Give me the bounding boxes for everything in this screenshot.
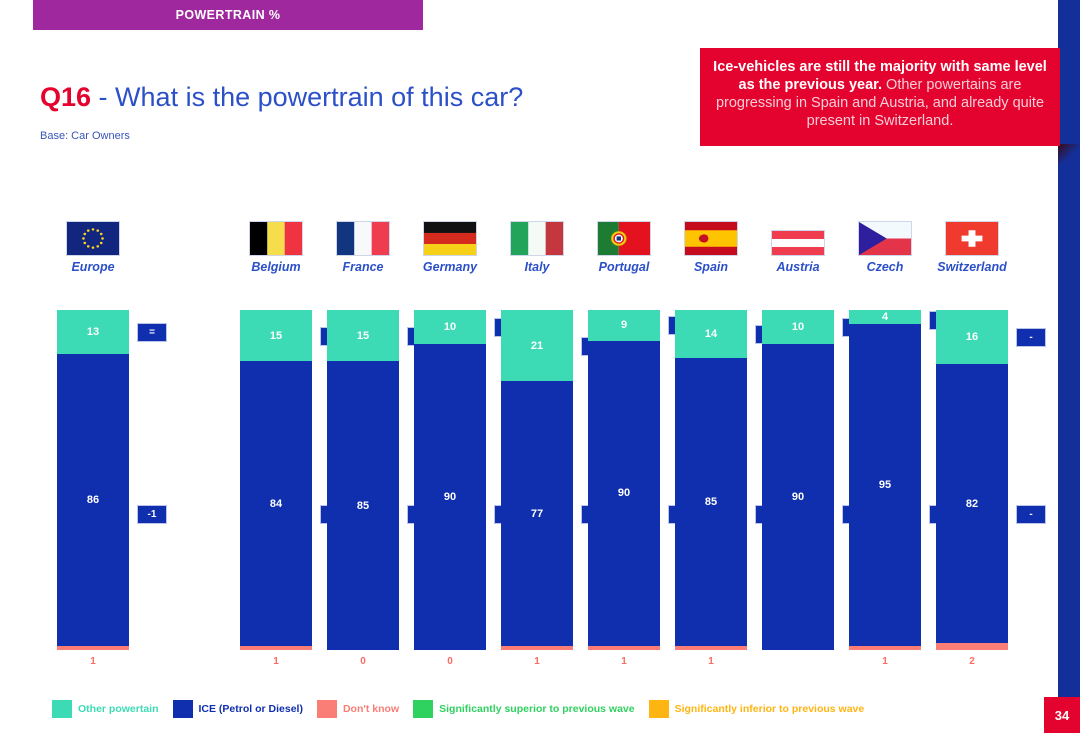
flag-portugal-icon <box>597 221 651 256</box>
legend-swatch-icon <box>413 700 433 718</box>
segment-value: 85 <box>705 496 717 508</box>
country-label: Switzerland <box>937 260 1006 274</box>
segment-value: 9 <box>621 319 627 331</box>
flag-eu-icon <box>66 221 120 256</box>
country-column-switzerland: Switzerland16822-- <box>936 222 1008 274</box>
segment-value: 16 <box>966 331 978 343</box>
insight-callout: Ice-vehicles are still the majority with… <box>700 48 1060 146</box>
segment-dont-know <box>936 643 1008 650</box>
stacked-bar: 1386 <box>57 310 129 650</box>
segment-value: 15 <box>357 330 369 342</box>
country-column-germany: Germany10900-2+3 <box>414 222 486 274</box>
question-number: Q16 <box>40 82 91 112</box>
country-label: Belgium <box>251 260 300 274</box>
segment-ice: 84 <box>240 361 312 646</box>
legend-item-4: Significantly inferior to previous wave <box>649 700 865 718</box>
country-header: Portugal <box>588 222 660 274</box>
right-edge-rail <box>1058 0 1080 733</box>
segment-value: 21 <box>531 340 543 352</box>
segment-value: 4 <box>882 311 888 323</box>
stacked-bar: 1585 <box>327 310 399 650</box>
flag-italy-icon <box>510 221 564 256</box>
segment-ice: 86 <box>57 354 129 646</box>
segment-other-powertain: 16 <box>936 310 1008 364</box>
legend-item-2: Don't know <box>317 700 399 718</box>
segment-other-powertain: 15 <box>240 310 312 361</box>
country-column-czech: Czech4951-2+2 <box>849 222 921 274</box>
flag-switzerland-icon <box>945 221 999 256</box>
segment-dont-know <box>588 646 660 650</box>
country-header: Switzerland <box>936 222 1008 274</box>
stacked-bar: 1090 <box>762 310 834 650</box>
legend-item-1: ICE (Petrol or Diesel) <box>173 700 303 718</box>
country-column-europe: Europe13861=-1 <box>57 222 129 274</box>
segment-other-powertain: 21 <box>501 310 573 381</box>
country-column-belgium: Belgium15841=-1 <box>240 222 312 274</box>
dont-know-value: 0 <box>327 656 399 667</box>
flag-spain-icon <box>684 221 738 256</box>
segment-dont-know <box>57 646 129 650</box>
country-column-spain: Spain14851+4-4 <box>675 222 747 274</box>
base-note: Base: Car Owners <box>40 130 130 142</box>
flag-belgium-icon <box>249 221 303 256</box>
change-badge-ice: -1 <box>137 505 167 524</box>
question-text: What is the powertrain of this car? <box>115 82 523 112</box>
legend-label: ICE (Petrol or Diesel) <box>199 703 303 715</box>
flag-czech-icon <box>858 221 912 256</box>
country-column-italy: Italy21771-1-1 <box>501 222 573 274</box>
segment-other-powertain: 13 <box>57 310 129 354</box>
segment-value: 90 <box>444 491 456 503</box>
stacked-bar: 1485 <box>675 310 747 650</box>
country-column-france: France15850+1-1 <box>327 222 399 274</box>
stacked-bar: 1090 <box>414 310 486 650</box>
segment-ice: 85 <box>675 358 747 646</box>
country-column-portugal: Portugal9901+2-2 <box>588 222 660 274</box>
segment-dont-know <box>501 646 573 650</box>
legend-swatch-icon <box>52 700 72 718</box>
page-number-badge: 34 <box>1044 697 1080 733</box>
legend-label: Other powertain <box>78 703 159 715</box>
country-header: Czech <box>849 222 921 274</box>
country-label: Czech <box>867 260 904 274</box>
country-label: Austria <box>776 260 819 274</box>
segment-ice: 90 <box>762 344 834 650</box>
segment-value: 84 <box>270 498 282 510</box>
country-label: Europe <box>71 260 114 274</box>
legend-swatch-icon <box>173 700 193 718</box>
segment-dont-know <box>849 646 921 650</box>
segment-value: 90 <box>618 487 630 499</box>
change-badge-other-powertain: - <box>1016 328 1046 347</box>
segment-value: 10 <box>792 321 804 333</box>
change-badge-other-powertain: = <box>137 323 167 342</box>
legend-label: Significantly superior to previous wave <box>439 703 634 715</box>
country-header: Germany <box>414 222 486 274</box>
segment-other-powertain: 10 <box>762 310 834 344</box>
country-label: Spain <box>694 260 728 274</box>
title-dash: - <box>91 82 115 112</box>
legend-label: Don't know <box>343 703 399 715</box>
segment-value: 14 <box>705 328 717 340</box>
segment-ice: 85 <box>327 361 399 650</box>
segment-other-powertain: 9 <box>588 310 660 341</box>
legend-label: Significantly inferior to previous wave <box>675 703 865 715</box>
segment-other-powertain: 14 <box>675 310 747 358</box>
segment-ice: 95 <box>849 324 921 646</box>
dont-know-value: 1 <box>849 656 921 667</box>
flag-germany-icon <box>423 221 477 256</box>
segment-value: 86 <box>87 494 99 506</box>
change-badge-ice: - <box>1016 505 1046 524</box>
stacked-bar-chart: Europe13861=-1Belgium15841=-1France15850… <box>0 222 1040 692</box>
dont-know-value: 1 <box>588 656 660 667</box>
segment-value: 15 <box>270 330 282 342</box>
segment-dont-know <box>675 646 747 650</box>
legend-item-3: Significantly superior to previous wave <box>413 700 634 718</box>
country-label: Portugal <box>599 260 650 274</box>
segment-value: 13 <box>87 326 99 338</box>
segment-other-powertain: 15 <box>327 310 399 361</box>
right-rail-notch <box>1058 144 1080 164</box>
section-tab: POWERTRAIN % <box>33 0 423 30</box>
segment-value: 82 <box>966 498 978 510</box>
segment-value: 95 <box>879 479 891 491</box>
flag-france-icon <box>336 221 390 256</box>
page-title: Q16 - What is the powertrain of this car… <box>40 82 523 113</box>
country-header: Belgium <box>240 222 312 274</box>
segment-other-powertain: 10 <box>414 310 486 344</box>
country-label: Italy <box>524 260 549 274</box>
country-header: France <box>327 222 399 274</box>
country-label: Germany <box>423 260 477 274</box>
segment-ice: 77 <box>501 381 573 646</box>
dont-know-value: 1 <box>240 656 312 667</box>
dont-know-value: 2 <box>936 656 1008 667</box>
country-header: Spain <box>675 222 747 274</box>
dont-know-value: 1 <box>57 656 129 667</box>
stacked-bar: 1584 <box>240 310 312 650</box>
dont-know-value: 1 <box>501 656 573 667</box>
legend-item-0: Other powertain <box>52 700 159 718</box>
legend-swatch-icon <box>317 700 337 718</box>
country-header: Italy <box>501 222 573 274</box>
stacked-bar: 1682 <box>936 310 1008 650</box>
segment-ice: 90 <box>414 344 486 650</box>
country-column-austria: Austria1090+3-2 <box>762 222 834 274</box>
legend-swatch-icon <box>649 700 669 718</box>
segment-dont-know <box>240 646 312 650</box>
country-label: France <box>343 260 384 274</box>
segment-other-powertain: 4 <box>849 310 921 324</box>
dont-know-value: 0 <box>414 656 486 667</box>
segment-value: 77 <box>531 508 543 520</box>
flag-austria-icon <box>771 230 825 256</box>
country-header: Europe <box>57 222 129 274</box>
country-header: Austria <box>762 222 834 274</box>
dont-know-value: 1 <box>675 656 747 667</box>
segment-value: 10 <box>444 321 456 333</box>
stacked-bar: 990 <box>588 310 660 650</box>
stacked-bar: 495 <box>849 310 921 650</box>
segment-value: 85 <box>357 500 369 512</box>
segment-ice: 90 <box>588 341 660 646</box>
segment-value: 90 <box>792 491 804 503</box>
stacked-bar: 2177 <box>501 310 573 650</box>
chart-legend: Other powertainICE (Petrol or Diesel)Don… <box>52 700 878 718</box>
segment-ice: 82 <box>936 364 1008 643</box>
